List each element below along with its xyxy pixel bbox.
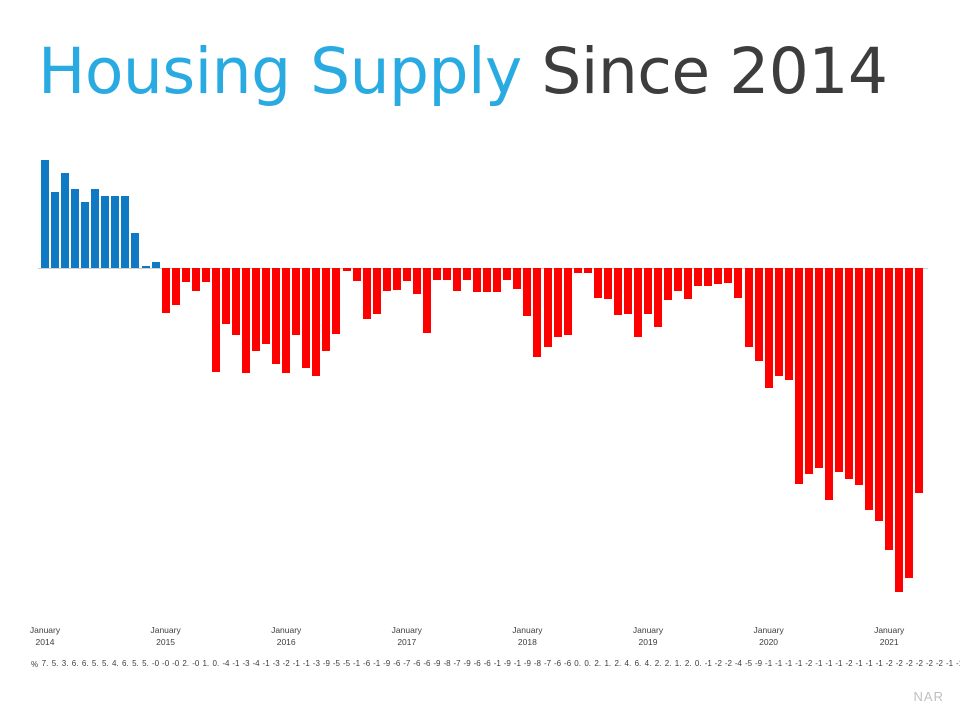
bar-negative (232, 268, 240, 335)
nar-logo: NAR (914, 689, 944, 704)
title-accent-text: Housing Supply (38, 35, 541, 108)
bar-negative (915, 268, 923, 493)
tick-year: 2021 (849, 637, 929, 649)
bar-negative (413, 268, 421, 294)
bar-negative (724, 268, 732, 283)
bar-positive (121, 196, 129, 268)
bar-negative (292, 268, 300, 335)
bar-negative (363, 268, 371, 319)
tick-year: 2014 (5, 637, 85, 649)
bar-negative (825, 268, 833, 500)
bar-negative (252, 268, 260, 351)
tick-year: 2020 (729, 637, 809, 649)
slide-canvas: Housing Supply Since 2014 January2014Jan… (0, 0, 960, 720)
bar-negative (584, 268, 592, 273)
chart-plot-area (38, 150, 928, 620)
bar-negative (905, 268, 913, 578)
bar-positive (91, 189, 99, 268)
page-title: Housing Supply Since 2014 (38, 34, 918, 110)
bar-positive (71, 189, 79, 268)
bar-negative (302, 268, 310, 368)
x-axis-tick-2015: January2015 (126, 625, 206, 648)
bar-negative (714, 268, 722, 284)
tick-month: January (487, 625, 567, 637)
bar-negative (574, 268, 582, 273)
bar-negative (493, 268, 501, 292)
bar-negative (172, 268, 180, 305)
data-label-row: % 7.5.3.6.6.5.5.4.6.5.5.-0-0-02.-01.0.-4… (0, 659, 960, 675)
bar-negative (835, 268, 843, 472)
bar-negative (242, 268, 250, 373)
bar-negative (433, 268, 441, 280)
bar-negative (473, 268, 481, 292)
bar-negative (212, 268, 220, 372)
bar-negative (755, 268, 763, 361)
bar-negative (202, 268, 210, 282)
x-axis-tick-2020: January2020 (729, 625, 809, 648)
bar-negative (664, 268, 672, 300)
bar-negative (423, 268, 431, 333)
bar-negative (353, 268, 361, 281)
x-axis-tick-2014: January2014 (5, 625, 85, 648)
bar-positive (81, 202, 89, 268)
bar-negative (815, 268, 823, 468)
bar-negative (654, 268, 662, 327)
bar-negative (332, 268, 340, 334)
tick-month: January (608, 625, 688, 637)
bar-negative (533, 268, 541, 357)
bar-negative (322, 268, 330, 351)
bar-negative (182, 268, 190, 282)
bar-negative (694, 268, 702, 286)
bar-negative (554, 268, 562, 337)
bar-negative (262, 268, 270, 344)
bar-positive (41, 160, 49, 268)
x-axis-tick-2017: January2017 (367, 625, 447, 648)
bar-negative (805, 268, 813, 474)
bar-positive (61, 173, 69, 268)
bar-negative (704, 268, 712, 286)
bar-positive (131, 233, 139, 268)
bar-negative (393, 268, 401, 290)
data-label: -1 (953, 659, 960, 668)
bar-negative (614, 268, 622, 315)
x-axis-tick-2021: January2021 (849, 625, 929, 648)
bar-negative (634, 268, 642, 337)
bar-negative (734, 268, 742, 298)
tick-year: 2017 (367, 637, 447, 649)
bar-negative (795, 268, 803, 484)
title-rest-text: Since 2014 (541, 35, 887, 108)
bar-negative (875, 268, 883, 521)
x-axis-tick-2018: January2018 (487, 625, 567, 648)
tick-month: January (5, 625, 85, 637)
bar-negative (885, 268, 893, 550)
bar-negative (383, 268, 391, 291)
tick-month: January (849, 625, 929, 637)
bar-negative (272, 268, 280, 364)
bar-negative (312, 268, 320, 376)
bar-negative (513, 268, 521, 289)
bar-negative (403, 268, 411, 281)
bar-negative (544, 268, 552, 347)
bar-negative (343, 268, 351, 271)
bar-negative (785, 268, 793, 380)
bar-negative (775, 268, 783, 376)
bar-negative (845, 268, 853, 479)
bar-negative (624, 268, 632, 314)
bar-negative (855, 268, 863, 485)
bar-negative (443, 268, 451, 280)
bar-negative (594, 268, 602, 298)
bar-negative (453, 268, 461, 291)
bar-negative (463, 268, 471, 280)
bar-negative (564, 268, 572, 335)
x-axis-labels: January2014January2015January2016January… (0, 625, 960, 653)
bar-negative (192, 268, 200, 291)
x-axis-tick-2019: January2019 (608, 625, 688, 648)
tick-month: January (729, 625, 809, 637)
tick-month: January (367, 625, 447, 637)
bar-negative (604, 268, 612, 299)
bar-positive (111, 196, 119, 268)
bar-negative (895, 268, 903, 592)
bar-negative (865, 268, 873, 510)
bar-negative (162, 268, 170, 313)
bar-negative (503, 268, 511, 280)
bar-negative (222, 268, 230, 324)
tick-month: January (246, 625, 326, 637)
bar-negative (745, 268, 753, 347)
tick-year: 2016 (246, 637, 326, 649)
bar-negative (483, 268, 491, 292)
bar-negative (674, 268, 682, 291)
bar-positive (101, 196, 109, 268)
bar-negative (644, 268, 652, 314)
bar-negative (373, 268, 381, 314)
bar-negative (282, 268, 290, 373)
bar-negative (523, 268, 531, 316)
bar-series-layer (38, 150, 928, 620)
tick-month: January (126, 625, 206, 637)
tick-year: 2018 (487, 637, 567, 649)
bar-positive (51, 192, 59, 268)
bar-negative (684, 268, 692, 299)
bar-positive (142, 266, 150, 268)
x-axis-tick-2016: January2016 (246, 625, 326, 648)
bar-negative (765, 268, 773, 388)
tick-year: 2019 (608, 637, 688, 649)
bar-positive (152, 262, 160, 268)
tick-year: 2015 (126, 637, 206, 649)
